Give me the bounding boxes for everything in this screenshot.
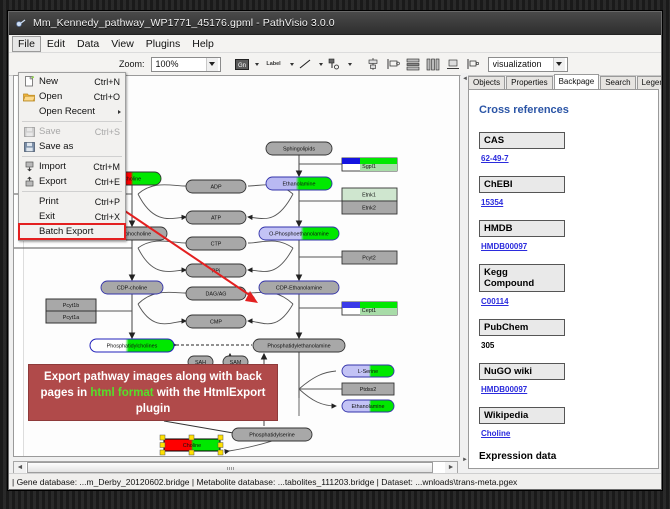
svg-text:CDP-Ethanolamine: CDP-Ethanolamine [276,286,322,292]
node-pcyt2: Pcyt2 [342,251,397,264]
svg-text:Etnk2: Etnk2 [362,206,376,212]
anchor-dropdown-icon[interactable] [348,63,352,66]
export-icon [19,176,39,187]
node-etnk2: Etnk2 [342,201,397,214]
xref-label-chebi: ChEBI [479,176,565,193]
xref-value-chebi[interactable]: 15354 [481,198,650,207]
menu-plugins[interactable]: Plugins [140,36,186,52]
menu-label-save: Save [39,126,95,137]
menu-accel-print: Ctrl+P [95,197,125,207]
svg-text:Ethanolamine: Ethanolamine [352,404,385,410]
svg-text:Ethanolamine: Ethanolamine [283,182,316,188]
xref-value-kegg[interactable]: C00114 [481,297,650,306]
side-panel: Objects Properties Backpage Search Legen… [461,73,659,469]
menu-item-print[interactable]: Print Ctrl+P [19,194,125,209]
menu-label-save-as: Save as [39,141,120,152]
align-bottom-icon[interactable] [445,56,461,72]
menu-accel-open: Ctrl+O [94,92,125,102]
svg-text:Phosphatidylethanolamine: Phosphatidylethanolamine [267,344,330,350]
node-phosphatidylcholines: Phosphatidylcholines [90,339,174,352]
node-ethanolamine: Ethanolamine [266,177,332,190]
save-icon [19,127,39,137]
window-title: Mm_Kennedy_pathway_WP1771_45176.gpml - P… [33,17,335,29]
xref-value-hmdb[interactable]: HMDB00097 [481,242,650,251]
file-menu-popup[interactable]: New Ctrl+N Open Ctrl+O Open Recent Save … [18,72,126,241]
svg-text:Phosphatidylcholines: Phosphatidylcholines [107,344,158,350]
zoom-combo[interactable]: 100% [151,57,221,72]
visualization-value: visualization [493,59,553,69]
title-bar: Mm_Kennedy_pathway_WP1771_45176.gpml - P… [9,12,661,35]
anchor-tool-icon[interactable] [327,56,343,72]
xref-value-nugo[interactable]: HMDB00097 [481,385,650,394]
svg-text:O-Phosphoethanolamine: O-Phosphoethanolamine [269,232,329,238]
node-sgpl1: Sgpl1 [342,158,397,171]
node-dag-ag: DAG/AG [186,287,246,300]
new-document-icon [19,76,39,87]
cross-references-heading: Cross references [479,104,650,116]
xref-label-nugo: NuGO wiki [479,363,565,380]
xref-value-pubchem: 305 [481,341,650,350]
node-l-serine: L-Serine [342,365,394,377]
svg-text:CTP: CTP [211,242,222,248]
status-bar: | Gene database: ...m_Derby_20120602.bri… [9,473,662,489]
import-icon [19,161,39,172]
node-cdp-ethanolamine: CDP-Ethanolamine [259,281,339,294]
align-left-icon[interactable] [385,56,401,72]
menu-label-exit: Exit [39,211,95,222]
xref-value-wikipedia[interactable]: Choline [481,429,650,438]
svg-text:Sphingolipids: Sphingolipids [283,147,315,153]
menu-item-save: Save Ctrl+S [19,124,125,139]
node-cept1: Cept1 [342,302,397,315]
stack-vertical-icon[interactable] [405,56,421,72]
menu-label-print: Print [39,196,95,207]
svg-text:Pcyt2: Pcyt2 [362,256,375,262]
visualization-combo[interactable]: visualization [488,57,568,72]
expression-data-heading: Expression data [479,451,650,462]
tab-objects[interactable]: Objects [468,76,505,89]
callout-highlight: html format [90,387,153,399]
menu-label-open-recent: Open Recent [39,106,125,117]
menu-accel-save: Ctrl+S [95,127,125,137]
menu-item-new[interactable]: New Ctrl+N [19,74,125,89]
label-tool-icon[interactable]: Label [263,56,285,72]
save-as-icon [19,142,39,152]
menu-accel-import: Ctrl+M [93,162,125,172]
node-cmp: CMP [186,315,246,328]
menu-item-import[interactable]: Import Ctrl+M [19,159,125,174]
node-phosphatidylethanolamine: Phosphatidylethanolamine [253,339,345,352]
menu-accel-exit: Ctrl+X [95,212,125,222]
status-text: | Gene database: ...m_Derby_20120602.bri… [12,477,517,487]
node-pcyt1b: Pcyt1b [46,299,96,311]
node-sphingolipids: Sphingolipids [266,142,332,155]
align-center-icon[interactable] [365,56,381,72]
xref-label-cas: CAS [479,132,565,149]
svg-text:L-Serine: L-Serine [358,369,378,375]
node-cdp-choline: CDP-choline [101,281,163,294]
menu-edit[interactable]: Edit [41,36,71,52]
node-ethanolamine-bottom: Ethanolamine [342,400,394,412]
node-phosphatidylserine: Phosphatidylserine [232,428,312,441]
svg-text:ATP: ATP [211,216,221,222]
chevron-down-icon-2 [553,58,565,71]
side-tabstrip: Objects Properties Backpage Search Legen… [468,75,659,89]
menu-bar: File Edit Data View Plugins Help [9,35,661,53]
menu-separator-3 [22,191,122,192]
node-etnk1: Etnk1 [342,188,397,201]
scroll-right-icon[interactable]: ► [445,462,457,473]
menu-accel-export: Ctrl+E [95,177,125,187]
menu-label-new: New [39,76,94,87]
line-dropdown-icon[interactable] [319,63,323,66]
backpage-panel: Cross references CAS 62-49-7 ChEBI 15354… [468,89,659,469]
node-atp: ATP [186,211,246,224]
svg-text:CMP: CMP [210,320,222,326]
node-ptdss2: Ptdss2 [342,383,394,395]
annotation-callout: Export pathway images along with back pa… [28,364,278,421]
svg-text:Pcyt1a: Pcyt1a [63,315,79,321]
pathvisio-icon [15,17,27,29]
distribute-icon[interactable] [425,56,441,72]
svg-text:Ptdss2: Ptdss2 [360,387,376,393]
menu-item-exit[interactable]: Exit Ctrl+X [19,209,125,224]
svg-text:Pcyt1b: Pcyt1b [63,303,79,309]
svg-text:PPi: PPi [212,269,220,275]
zoom-value: 100% [156,59,206,69]
svg-text:Sgpl1: Sgpl1 [362,164,376,170]
xref-value-cas[interactable]: 62-49-7 [481,154,650,163]
svg-text:Choline: Choline [183,443,201,449]
svg-text:Gn: Gn [238,63,246,69]
tab-properties[interactable]: Properties [506,76,552,89]
node-choline-selected: Choline [160,435,223,455]
line-tool-icon[interactable] [298,56,314,72]
svg-text:DAG/AG: DAG/AG [206,292,227,298]
submenu-arrow-icon [118,110,121,114]
node-ctp: CTP [186,237,246,250]
node-o-phosphoethanolamine: O-Phosphoethanolamine [259,227,339,240]
menu-item-batch-export[interactable]: Batch Export [19,224,125,239]
xref-label-pubchem: PubChem [479,319,565,336]
tab-legend[interactable]: Legend [637,76,662,89]
menu-separator-1 [22,121,122,122]
xref-label-hmdb: HMDB [479,220,565,237]
tab-backpage[interactable]: Backpage [554,74,600,89]
callout-text-after: with the HtmlExport plugin [136,387,266,415]
menu-label-import: Import [39,161,93,172]
scroll-track[interactable] [26,462,445,473]
menu-help[interactable]: Help [186,36,220,52]
menu-view[interactable]: View [105,36,140,52]
menu-label-open: Open [39,91,94,102]
svg-text:ADP: ADP [210,185,221,191]
svg-text:Etnk1: Etnk1 [362,193,376,199]
menu-accel-new: Ctrl+N [94,77,125,87]
label-dropdown-icon[interactable] [290,63,294,66]
chevron-down-icon [206,58,218,71]
svg-text:Cept1: Cept1 [362,308,376,314]
tab-search[interactable]: Search [600,76,635,89]
svg-text:Phosphatidylserine: Phosphatidylserine [249,433,295,439]
scroll-left-icon[interactable]: ◄ [14,462,26,473]
menu-label-batch-export: Batch Export [39,226,125,237]
visualization-icon[interactable] [465,56,481,72]
node-adp: ADP [186,180,246,193]
xref-label-kegg: Kegg Compound [479,264,565,292]
menu-item-export[interactable]: Export Ctrl+E [19,174,125,189]
menu-file[interactable]: File [12,36,41,52]
datanode-dropdown-icon[interactable] [255,63,259,66]
svg-text:CDP-choline: CDP-choline [117,286,147,292]
menu-item-save-as[interactable]: Save as [19,139,125,154]
datanode-tool-icon[interactable]: Gn [234,56,250,72]
menu-item-open-recent[interactable]: Open Recent [19,104,125,119]
node-pcyt1a: Pcyt1a [46,311,96,323]
node-ppi: PPi [186,264,246,277]
menu-data[interactable]: Data [71,36,105,52]
menu-separator-2 [22,156,122,157]
menu-item-open[interactable]: Open Ctrl+O [19,89,125,104]
pathvisio-window: Mm_Kennedy_pathway_WP1771_45176.gpml - P… [8,11,662,490]
zoom-label: Zoom: [119,59,145,69]
folder-open-icon [19,92,39,102]
scroll-thumb[interactable] [27,462,433,473]
xref-label-wikipedia: Wikipedia [479,407,565,424]
menu-label-export: Export [39,176,95,187]
